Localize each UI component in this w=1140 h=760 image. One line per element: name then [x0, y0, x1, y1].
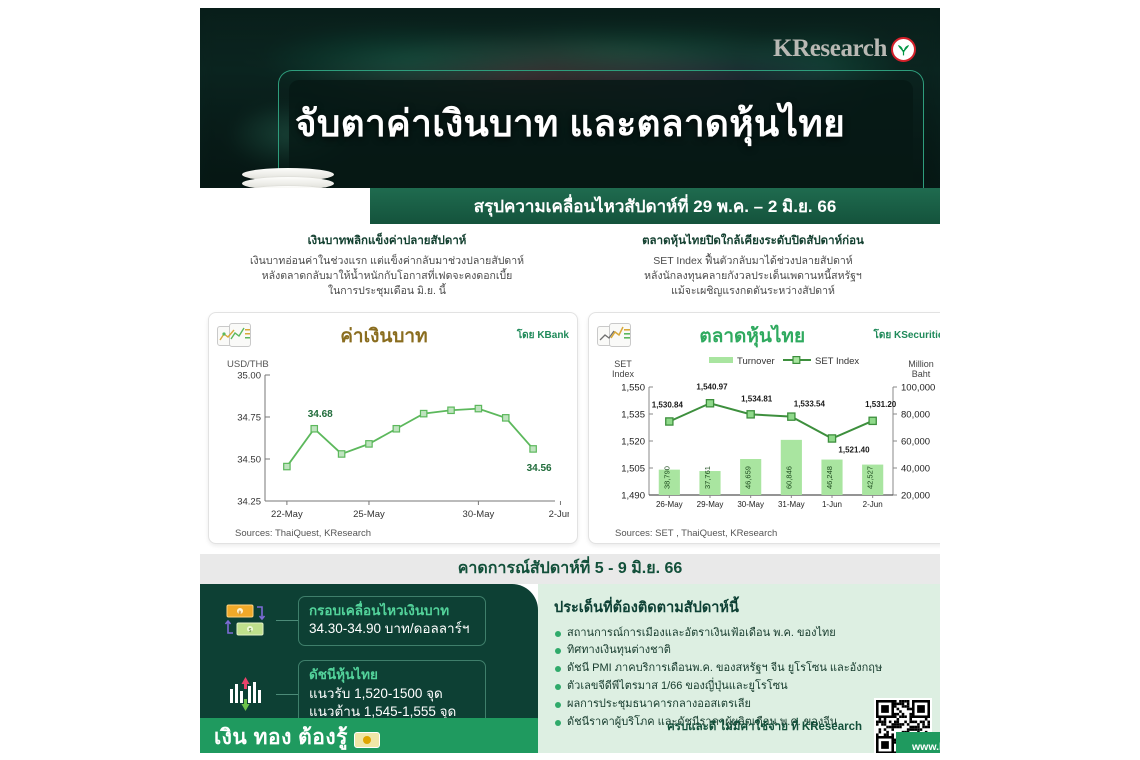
svg-text:1,540.97: 1,540.97: [696, 382, 728, 391]
svg-text:60,846: 60,846: [784, 466, 793, 489]
svg-text:1,550: 1,550: [621, 382, 645, 393]
series-ribbon: เงิน ทอง ต้องรู้: [200, 718, 558, 753]
forecast-cards: ฿ $ กรอบเคลื่อนไหวเงินบาท 34.30-34.90 บา…: [200, 584, 538, 753]
svg-text:46,659: 46,659: [744, 466, 753, 489]
svg-text:฿: ฿: [238, 610, 241, 616]
summary-band-label: สรุปความเคลื่อนไหวสัปดาห์ที่ 29 พ.ค. – 2…: [370, 188, 940, 224]
svg-text:46,248: 46,248: [825, 466, 834, 489]
summary-heading: เงินบาทพลิกแข็งค่าปลายสัปดาห์: [206, 232, 568, 250]
svg-text:80,000: 80,000: [901, 409, 930, 420]
bottom-section: ฿ $ กรอบเคลื่อนไหวเงินบาท 34.30-34.90 บา…: [200, 584, 940, 753]
svg-text:Turnover: Turnover: [737, 356, 775, 367]
forecast-card-value: แนวรับ 1,520-1500 จุด: [309, 685, 475, 704]
svg-text:30-May: 30-May: [737, 500, 764, 509]
set-combo-chart: SETIndexMillionBahtTurnoverSET Index1,49…: [597, 353, 940, 535]
logo-text: KResearch: [773, 35, 887, 63]
svg-text:38,790: 38,790: [662, 466, 671, 489]
infographic-poster: จับตาค่าเงินบาท และตลาดหุ้นไทย KResearch…: [200, 8, 940, 753]
summary-body: เงินบาทอ่อนค่าในช่วงแรก แต่แข็งค่ากลับมา…: [206, 254, 568, 300]
forecast-card-title: ดัชนีหุ้นไทย: [309, 666, 475, 684]
svg-text:22-May: 22-May: [271, 509, 303, 520]
svg-text:1,534.81: 1,534.81: [741, 394, 773, 403]
panel-title: ค่าเงินบาท: [259, 321, 509, 351]
thb-line-chart: USD/THB34.2534.5034.7535.0022-May25-May3…: [217, 353, 569, 535]
svg-text:1,530.84: 1,530.84: [652, 400, 684, 409]
svg-text:1,535: 1,535: [621, 409, 645, 420]
svg-text:1,490: 1,490: [621, 490, 645, 501]
watchlist-panel: ประเด็นที่ต้องติดตามสัปดาห์นี้ สถานการณ์…: [538, 584, 940, 753]
svg-text:34.75: 34.75: [237, 412, 261, 423]
svg-text:35.00: 35.00: [237, 370, 261, 381]
svg-text:1,533.54: 1,533.54: [794, 399, 826, 408]
banknotes-exchange-icon: ฿ $: [214, 599, 276, 643]
panel-byline: โดย KSecurities: [873, 328, 940, 343]
chart-panels: ค่าเงินบาท โดย KBank USD/THB34.2534.5034…: [200, 306, 940, 554]
watchlist-item: ผลการประชุมธนาคารกลางออสเตรเลีย: [554, 696, 926, 714]
forecast-card-value: 34.30-34.90 บาท/ดอลลาร์ฯ: [309, 620, 475, 639]
watchlist-item: ตัวเลขจีดีพีไตรมาส 1/66 ของญี่ปุ่นและยูโ…: [554, 678, 926, 696]
svg-text:34.68: 34.68: [308, 408, 333, 419]
panel-header: ตลาดหุ้นไทย โดย KSecurities: [597, 319, 940, 353]
watchlist-item: สถานการณ์การเมืองและอัตราเงินเฟ้อเดือน พ…: [554, 625, 926, 643]
forecast-card-title: กรอบเคลื่อนไหวเงินบาท: [309, 602, 475, 620]
thb-chart-svg: USD/THB34.2534.5034.7535.0022-May25-May3…: [217, 353, 569, 533]
line-chart-icon: [217, 323, 251, 349]
svg-text:34.50: 34.50: [237, 454, 261, 465]
kresearch-logo[interactable]: KResearch: [773, 35, 916, 63]
panel-set-chart: ตลาดหุ้นไทย โดย KSecurities SETIndexMill…: [588, 312, 940, 544]
svg-text:1,505: 1,505: [621, 463, 645, 474]
watchlist-cta: ครบและดี ไม่มีค่าใช้จ่าย ที่ KResearch: [667, 718, 862, 736]
panel-title: ตลาดหุ้นไทย: [639, 321, 865, 351]
forecast-band-label: คาดการณ์สัปดาห์ที่ 5 - 9 มิ.ย. 66: [200, 554, 940, 584]
svg-text:1-Jun: 1-Jun: [822, 500, 842, 509]
money-note-icon: [354, 732, 380, 748]
summary-columns: เงินบาทพลิกแข็งค่าปลายสัปดาห์ เงินบาทอ่อ…: [200, 224, 940, 306]
stock-bars-arrows-icon: [214, 673, 276, 717]
svg-text:1,531.20: 1,531.20: [865, 399, 897, 408]
summary-column-baht: เงินบาทพลิกแข็งค่าปลายสัปดาห์ เงินบาทอ่อ…: [206, 232, 568, 300]
summary-heading: ตลาดหุ้นไทยปิดใกล้เคียงระดับปิดสัปดาห์ก่…: [572, 232, 934, 250]
ribbon-label: เงิน ทอง ต้องรู้: [214, 721, 348, 753]
svg-text:2-Jun: 2-Jun: [863, 500, 883, 509]
footer-url[interactable]: www.kasikornresearch.com: [912, 741, 940, 753]
kasikorn-leaf-icon: [891, 37, 916, 62]
summary-body: SET Index ฟื้นตัวกลับมาได้ช่วงปลายสัปดาห…: [572, 254, 934, 300]
svg-text:Million: Million: [908, 359, 934, 369]
watchlist-item: ดัชนี PMI ภาคบริการเดือนพ.ค. ของสหรัฐฯ จ…: [554, 660, 926, 678]
svg-text:20,000: 20,000: [901, 490, 930, 501]
summary-column-set: ตลาดหุ้นไทยปิดใกล้เคียงระดับปิดสัปดาห์ก่…: [572, 232, 934, 300]
bar-chart-icon: [597, 323, 631, 349]
panel-sources: Sources: SET , ThaiQuest, KResearch: [615, 528, 777, 539]
page-title: จับตาค่าเงินบาท และตลาดหุ้นไทย: [200, 104, 940, 145]
watchlist-heading: ประเด็นที่ต้องติดตามสัปดาห์นี้: [554, 596, 926, 619]
coin-stack-decoration: [242, 168, 334, 188]
summary-band: สรุปความเคลื่อนไหวสัปดาห์ที่ 29 พ.ค. – 2…: [200, 188, 940, 224]
svg-text:SET Index: SET Index: [815, 356, 859, 367]
svg-text:Index: Index: [612, 369, 635, 379]
forecast-card-baht: ฿ $ กรอบเคลื่อนไหวเงินบาท 34.30-34.90 บา…: [200, 584, 538, 658]
svg-text:42,527: 42,527: [866, 466, 875, 489]
panel-header: ค่าเงินบาท โดย KBank: [217, 319, 569, 353]
panel-byline: โดย KBank: [517, 328, 569, 343]
svg-text:60,000: 60,000: [901, 436, 930, 447]
footer-bar: www.kasikornresearch.com f ▶ ♪ KResearch…: [896, 732, 940, 753]
forecast-card-body: กรอบเคลื่อนไหวเงินบาท 34.30-34.90 บาท/ดอ…: [298, 596, 486, 646]
summary-band-spacer: [200, 188, 370, 224]
connector-line: [276, 620, 298, 621]
svg-text:USD/THB: USD/THB: [227, 359, 269, 370]
svg-text:2-Jun: 2-Jun: [549, 509, 569, 520]
svg-text:34.25: 34.25: [237, 496, 261, 507]
svg-text:25-May: 25-May: [353, 509, 385, 520]
svg-text:31-May: 31-May: [778, 500, 805, 509]
watchlist-items: สถานการณ์การเมืองและอัตราเงินเฟ้อเดือน พ…: [554, 625, 926, 732]
svg-text:1,521.40: 1,521.40: [838, 445, 870, 454]
svg-text:Baht: Baht: [912, 369, 931, 379]
svg-text:$: $: [249, 628, 252, 634]
svg-text:30-May: 30-May: [463, 509, 495, 520]
svg-text:34.56: 34.56: [527, 463, 552, 474]
connector-line: [276, 694, 298, 695]
svg-text:100,000: 100,000: [901, 382, 935, 393]
svg-text:SET: SET: [614, 359, 632, 369]
set-chart-svg: SETIndexMillionBahtTurnoverSET Index1,49…: [597, 353, 940, 533]
svg-text:1,520: 1,520: [621, 436, 645, 447]
svg-text:37,761: 37,761: [703, 466, 712, 489]
svg-text:26-May: 26-May: [656, 500, 683, 509]
watchlist-item: ทิศทางเงินทุนต่างชาติ: [554, 642, 926, 660]
svg-text:29-May: 29-May: [697, 500, 724, 509]
svg-text:40,000: 40,000: [901, 463, 930, 474]
panel-sources: Sources: ThaiQuest, KResearch: [235, 528, 371, 539]
panel-thb-chart: ค่าเงินบาท โดย KBank USD/THB34.2534.5034…: [208, 312, 578, 544]
hero-header: จับตาค่าเงินบาท และตลาดหุ้นไทย KResearch: [200, 8, 940, 188]
